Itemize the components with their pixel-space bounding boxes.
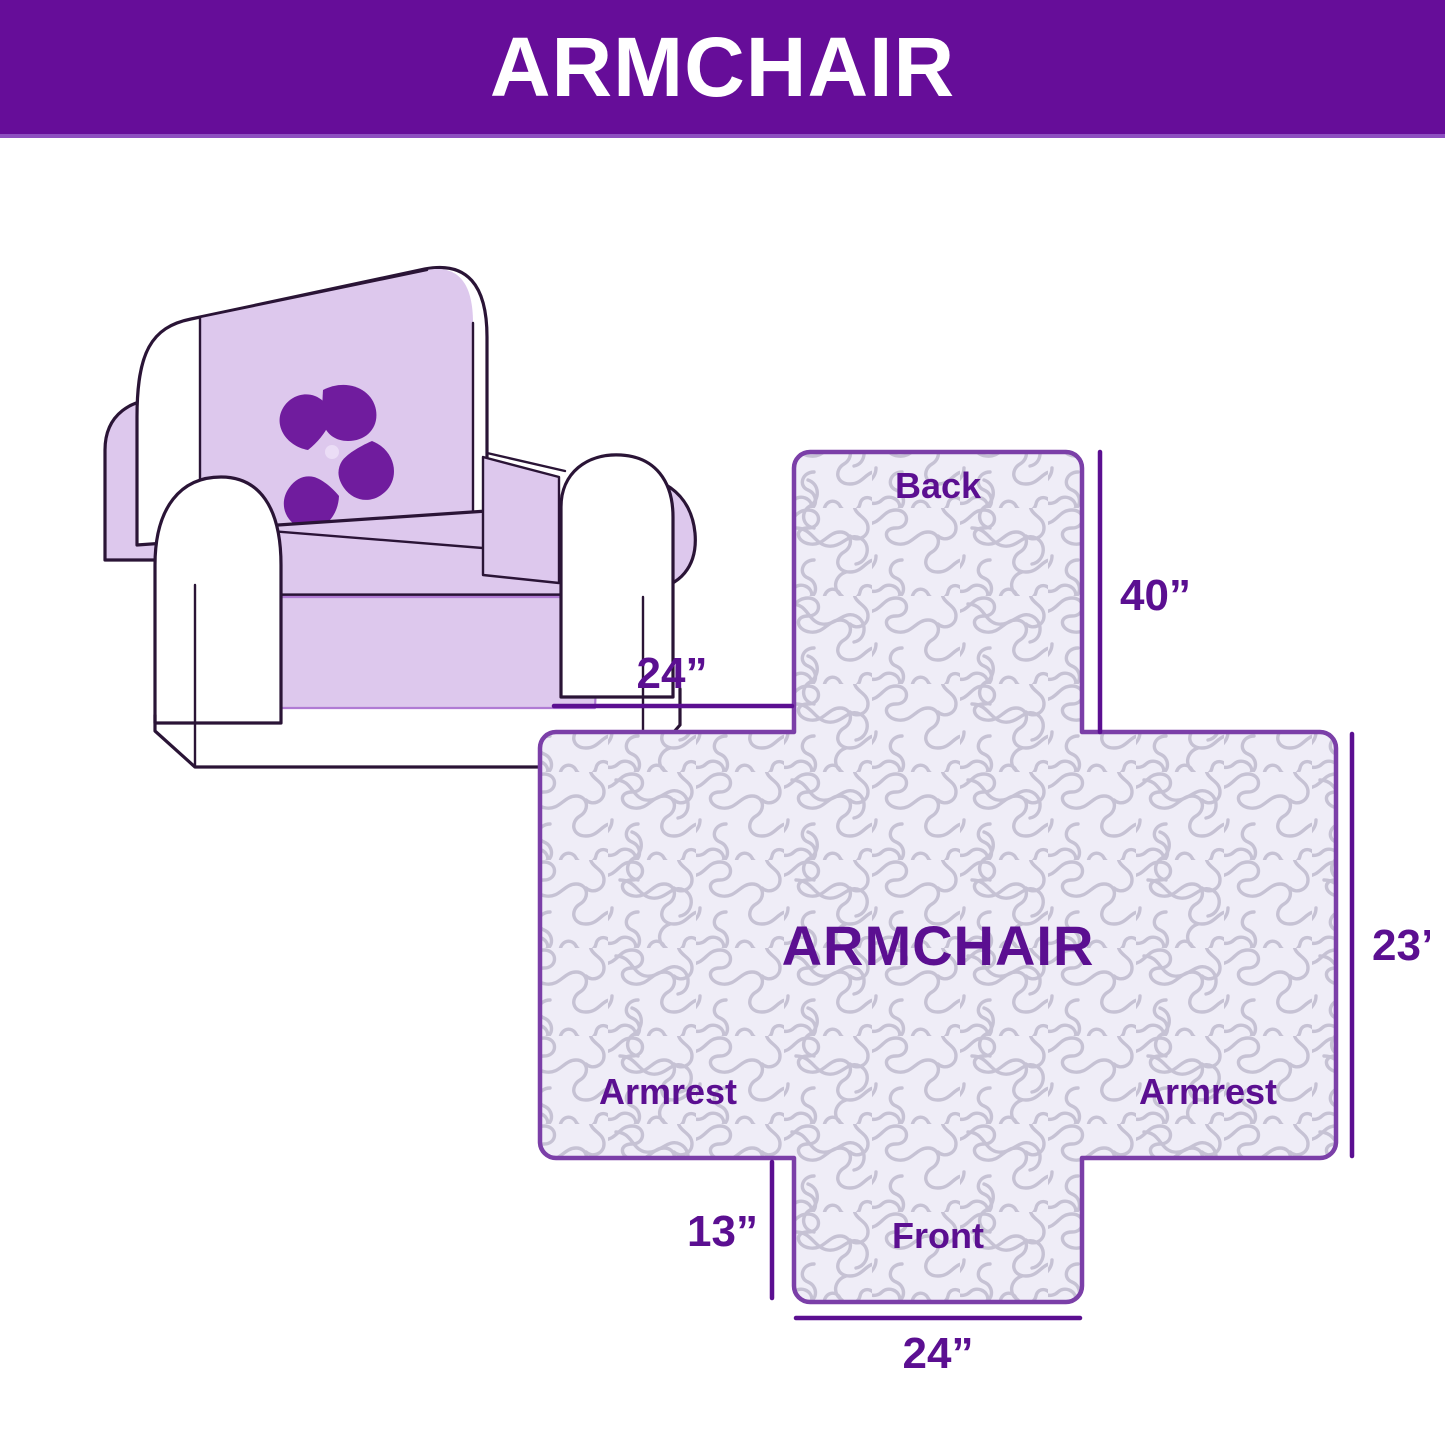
dimension-back-height: 40”	[1100, 452, 1191, 732]
dimension-center-height: 23”	[1352, 734, 1430, 1156]
dimension-armrest-left-width: 24”	[554, 649, 792, 706]
dimension-front-width: 24”	[796, 1318, 1080, 1378]
dimension-center-height-label: 23”	[1372, 921, 1430, 970]
header-underline-divider	[0, 134, 1445, 138]
panel-label-armrest-right: Armrest	[1139, 1071, 1277, 1112]
dimension-front-height: 13”	[687, 1162, 772, 1298]
slipcover-dimension-diagram: Back ARMCHAIR Armrest Armrest Front 40” …	[520, 420, 1430, 1400]
panel-label-armrest-left: Armrest	[599, 1071, 737, 1112]
panel-label-front: Front	[892, 1215, 984, 1256]
product-dimension-infographic: ARMCHAIR .ch-out { fill:none; stroke:#2A…	[0, 0, 1445, 1445]
dimension-armrest-left-width-label: 24”	[637, 649, 708, 698]
dimension-front-height-label: 13”	[687, 1207, 758, 1256]
dimension-back-height-label: 40”	[1120, 571, 1191, 620]
panel-label-center: ARMCHAIR	[782, 914, 1095, 977]
header-banner: ARMCHAIR	[0, 0, 1445, 134]
panel-label-back: Back	[895, 465, 982, 506]
dimension-front-width-label: 24”	[903, 1329, 974, 1378]
page-title: ARMCHAIR	[490, 25, 955, 109]
slipcover-cross-shape	[540, 452, 1336, 1302]
